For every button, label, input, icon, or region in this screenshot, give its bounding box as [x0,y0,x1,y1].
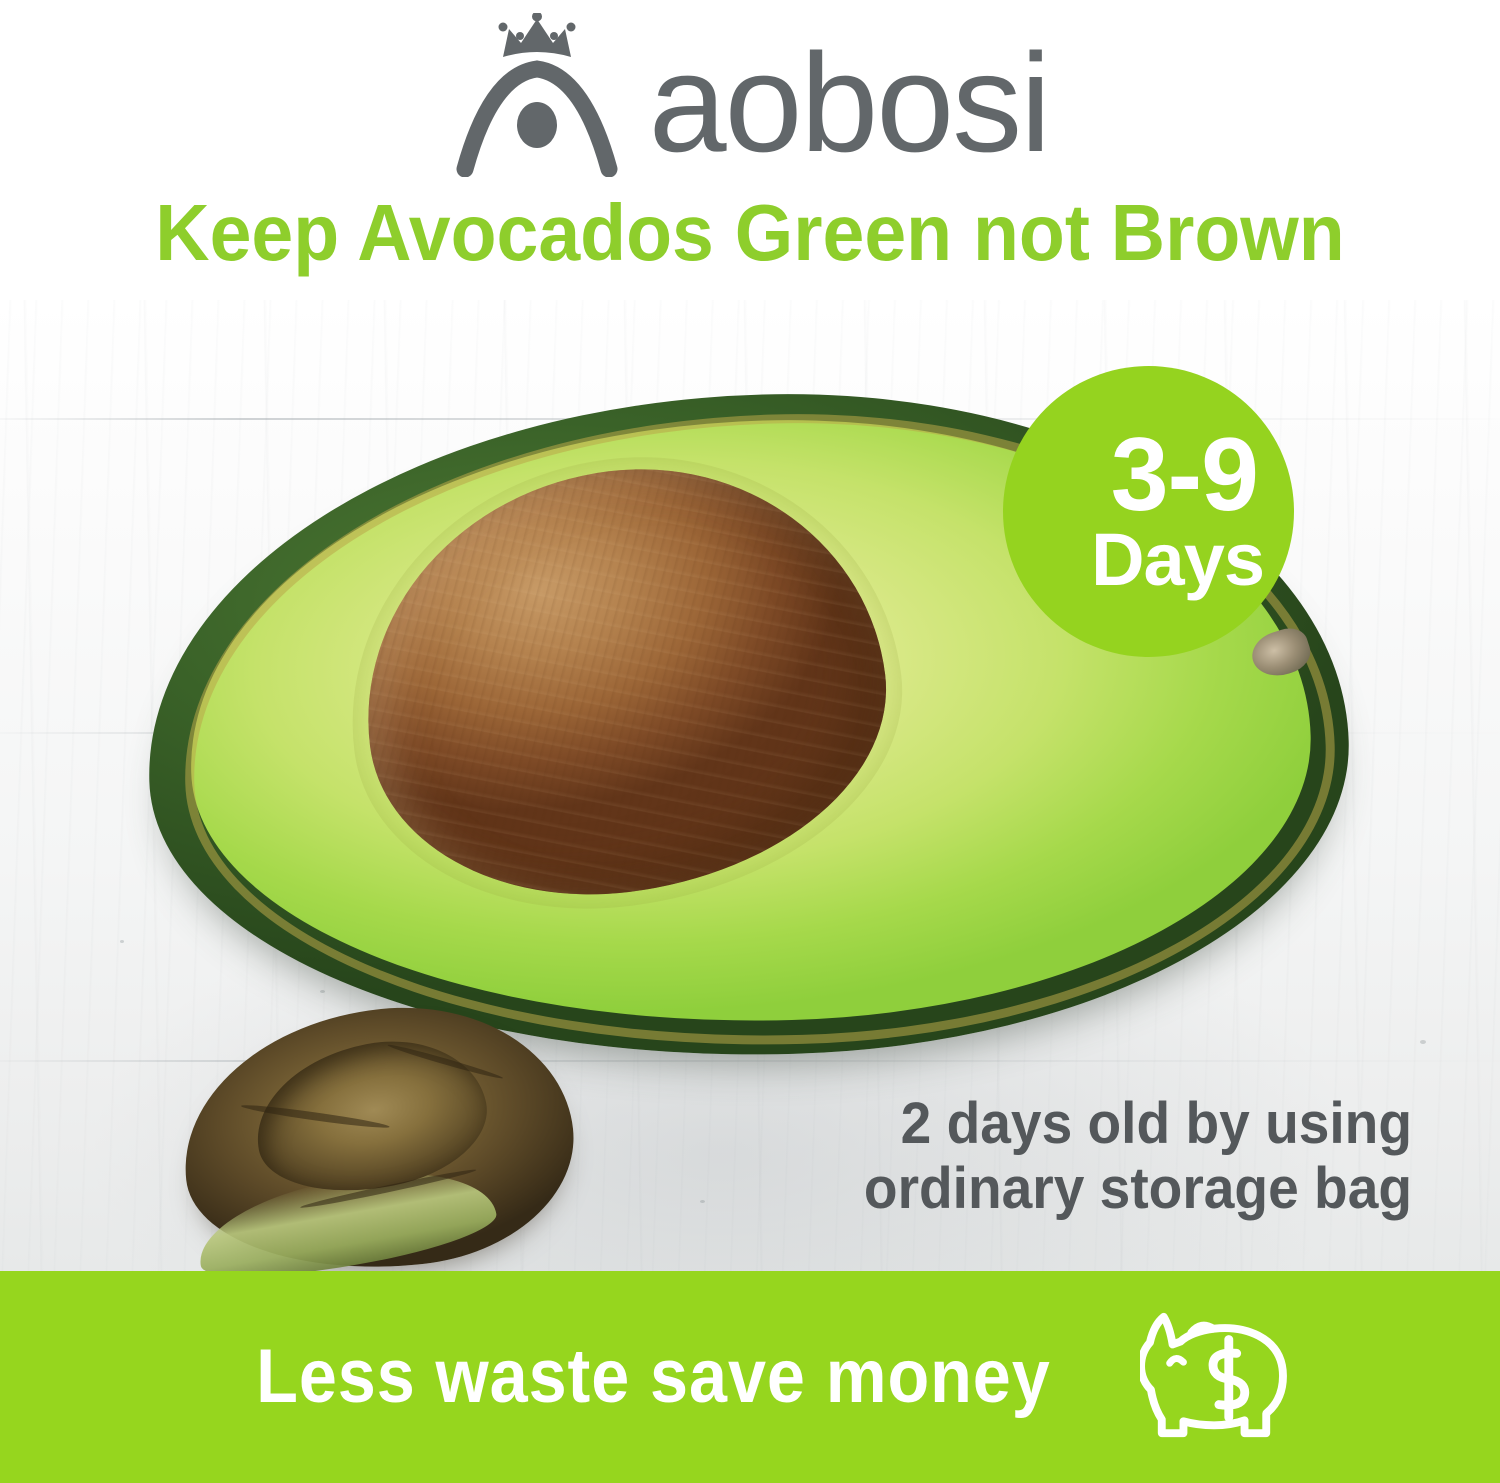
caption-line-2: ordinary storage bag [747,1157,1412,1222]
caption-line-1: 2 days old by using [747,1092,1412,1157]
piggy-bank-dollar-icon [1140,1309,1288,1445]
brand-name: aobosi [649,33,1050,173]
product-feature-poster: aobosi Keep Avocados Green not Brown 3-9… [0,0,1500,1483]
wood-speck [120,940,124,943]
bottom-banner-text: Less waste save money [256,1339,1051,1415]
brand-logo: aobosi [0,0,1500,190]
wood-speck [1420,1040,1426,1044]
spoiled-avocado-image [171,990,586,1271]
comparison-caption: 2 days old by using ordinary storage bag [747,1092,1412,1222]
page-title: Keep Avocados Green not Brown [45,193,1455,273]
freshness-days-badge: 3-9 Days [1003,366,1294,657]
wood-speck [700,1200,705,1203]
badge-days-range: 3-9 [1111,428,1258,524]
badge-days-unit: Days [1091,525,1264,595]
crown-arch-logo-icon [451,13,623,177]
bottom-banner: Less waste save money [0,1271,1500,1483]
